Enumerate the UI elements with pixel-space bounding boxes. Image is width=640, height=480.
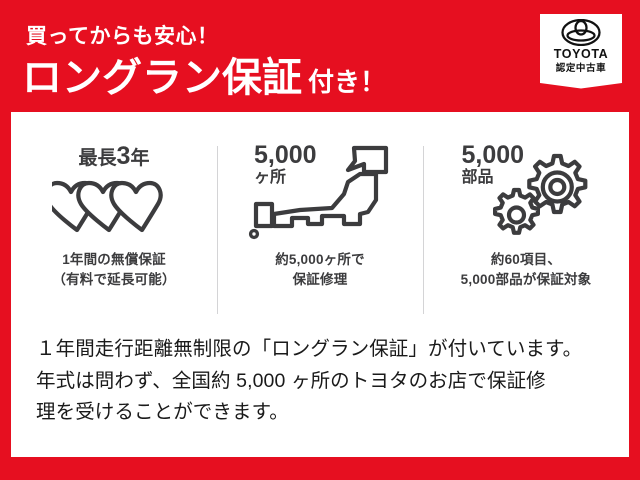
feature-visual: 5,000 ヶ所 [217, 132, 423, 250]
body-line: １年間走行距離無制限の「ロングラン保証」が付いています。 [36, 334, 616, 366]
feature-badge-parts: 5,000 部品 [462, 142, 525, 187]
content-card: 最長3年 1年間の無償保証 （有料で延長可能） [11, 112, 629, 457]
badge-prefix: 最長 [79, 148, 117, 169]
caption-line: 約5,000ヶ所で [275, 250, 365, 270]
feature-caption: 1年間の無償保証 （有料で延長可能） [52, 250, 175, 289]
caption-line: 保証修理 [275, 270, 365, 290]
caption-line: 1年間の無償保証 [52, 250, 175, 270]
badge-unit: 部品 [462, 170, 525, 187]
toyota-ellipse-mark [561, 19, 601, 46]
badge-unit: ヶ所 [254, 170, 317, 187]
caption-line: 5,000部品が保証対象 [461, 270, 592, 290]
toyota-certified-used-label: 認定中古車 [556, 64, 607, 74]
body-line: 年式は問わず、全国約 5,000 ヶ所のトヨタのお店で保証修 [36, 366, 616, 398]
feature-badge-term: 最長3年 [79, 144, 150, 169]
header-title-row: ロングラン保証 付き！ [22, 58, 386, 98]
badge-number: 3 [117, 142, 131, 170]
page-title: ロングラン保証 [22, 58, 302, 98]
feature-visual: 5,000 部品 [423, 132, 629, 250]
page-title-suffix: 付き！ [308, 69, 386, 98]
badge-suffix: 年 [130, 148, 149, 169]
toyota-wordmark: TOYOTA [554, 48, 609, 61]
logo-notch-shape [540, 83, 622, 96]
body-paragraph: １年間走行距離無制限の「ロングラン保証」が付いています。 年式は問わず、全国約 … [36, 334, 616, 429]
longrun-warranty-banner: 買ってからも安心！ ロングラン保証 付き！ TOYOTA 認定中古車 [0, 0, 640, 480]
feature-covered-parts: 5,000 部品 約60項目、 5,000部品が保証対象 [423, 132, 629, 322]
feature-visual: 最長3年 [11, 132, 217, 250]
toyota-logo-plate: TOYOTA 認定中古車 [540, 14, 622, 96]
header-kicker: 買ってからも安心！ [26, 26, 218, 47]
caption-line: 約60項目、 [461, 250, 592, 270]
feature-warranty-term: 最長3年 1年間の無償保証 （有料で延長可能） [11, 132, 217, 322]
three-hearts-icon [52, 174, 176, 236]
badge-number: 5,000 [254, 142, 317, 168]
body-line: 理を受けることができます。 [36, 397, 616, 429]
feature-caption: 約5,000ヶ所で 保証修理 [275, 250, 365, 289]
caption-line: （有料で延長可能） [52, 270, 175, 290]
feature-badge-locations: 5,000 ヶ所 [254, 142, 317, 187]
feature-columns: 最長3年 1年間の無償保証 （有料で延長可能） [11, 132, 629, 322]
feature-service-locations: 5,000 ヶ所 約5,000ヶ所で 保証修理 [217, 132, 423, 322]
badge-number: 5,000 [462, 142, 525, 168]
banner-header: 買ってからも安心！ ロングラン保証 付き！ TOYOTA 認定中古車 [0, 0, 640, 110]
feature-caption: 約60項目、 5,000部品が保証対象 [461, 250, 592, 289]
